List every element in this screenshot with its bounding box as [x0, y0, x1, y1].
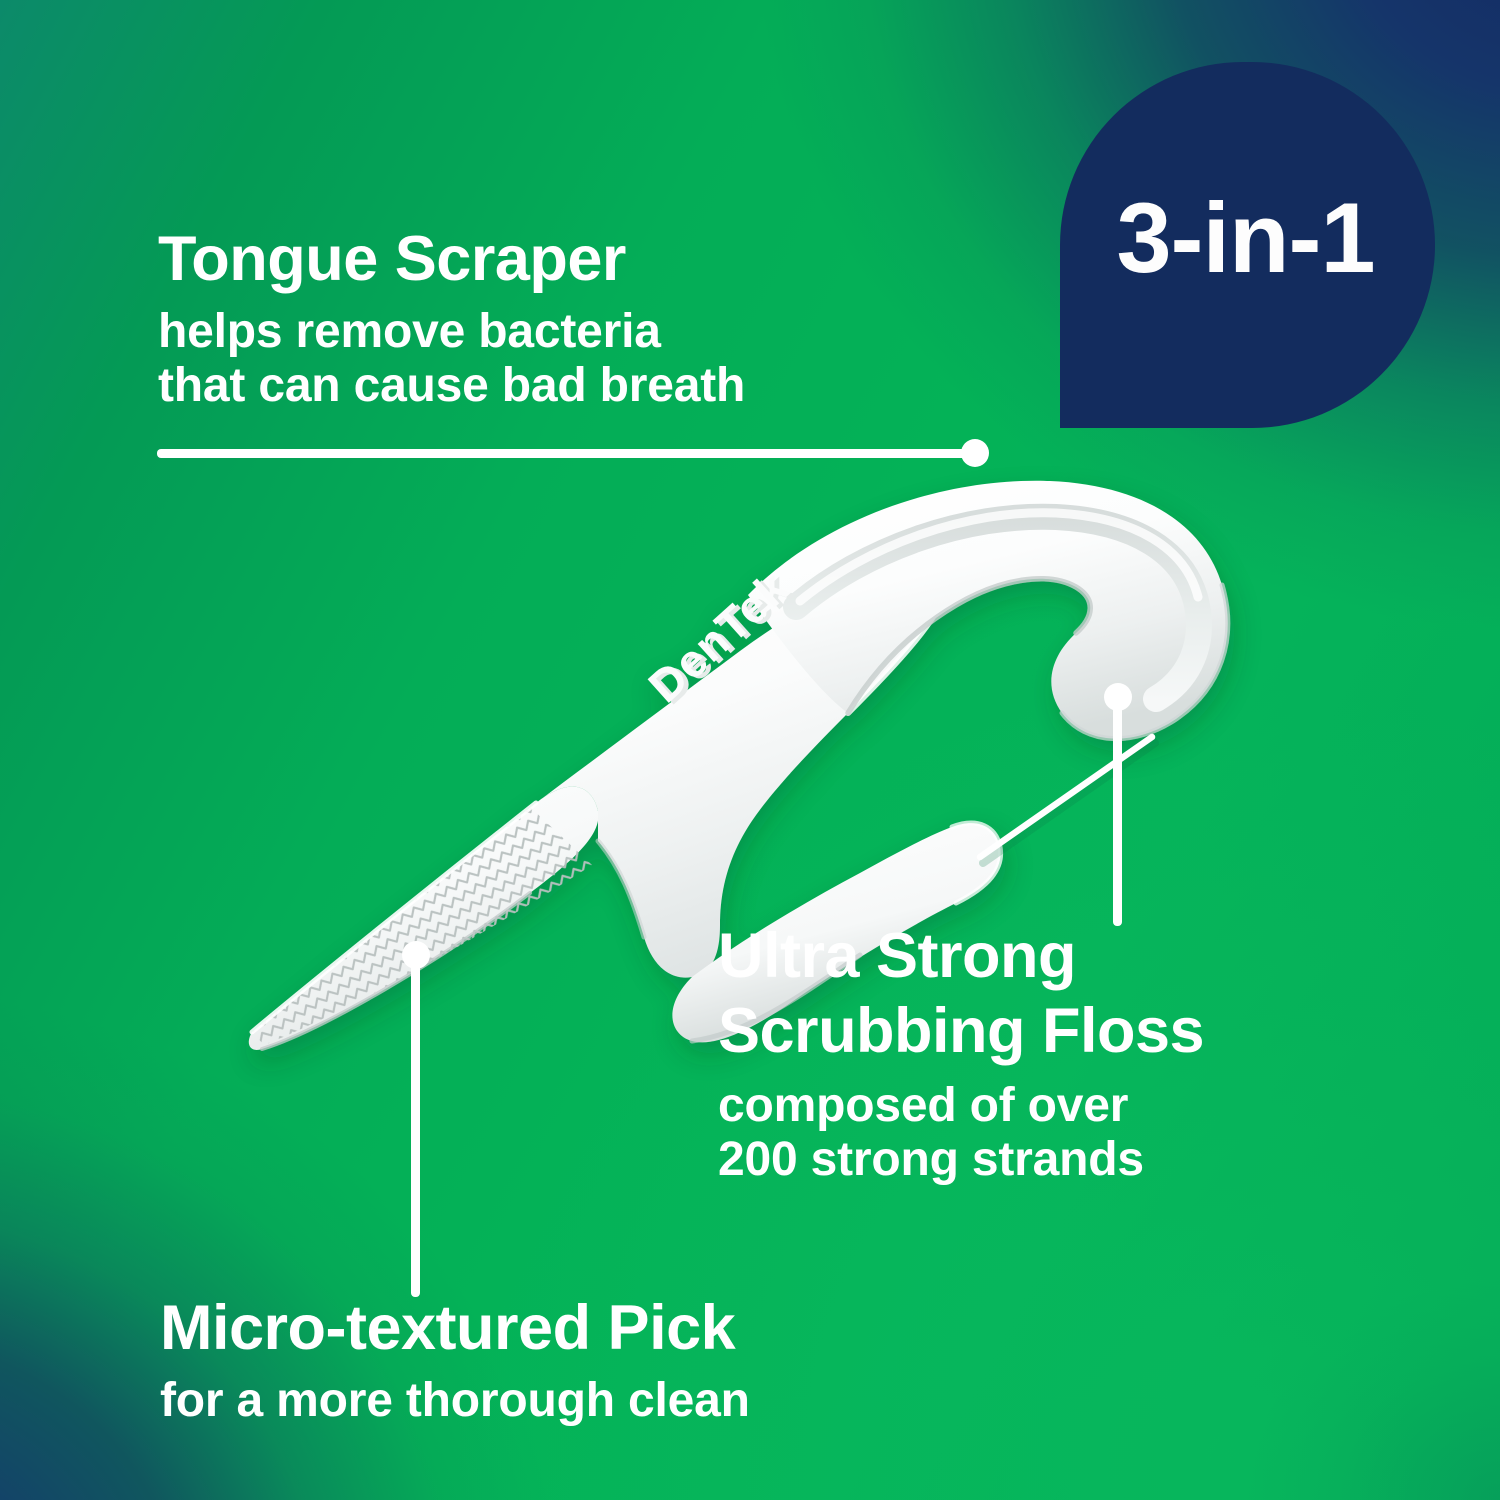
leader-line-scrubbing-floss — [1113, 704, 1122, 926]
callout-tongue-scraper-heading: Tongue Scraper — [158, 228, 745, 291]
callout-scrubbing-floss-heading-line-2: Scrubbing Floss — [718, 1000, 1204, 1063]
three-in-one-badge: 3-in-1 — [1060, 62, 1435, 428]
leader-dot-micro-textured-pick — [402, 941, 430, 969]
callout-scrubbing-floss: Ultra Strong Scrubbing Floss composed of… — [718, 925, 1204, 1187]
callout-tongue-scraper-subtext-line-2: that can cause bad breath — [158, 359, 745, 413]
callout-scrubbing-floss-subtext-line-2: 200 strong strands — [718, 1133, 1204, 1187]
leader-line-tongue-scraper — [157, 449, 975, 458]
callout-scrubbing-floss-subtext-line-1: composed of over — [718, 1079, 1204, 1133]
callout-scrubbing-floss-heading-line-1: Ultra Strong — [718, 925, 1204, 988]
leader-dot-tongue-scraper — [961, 439, 989, 467]
callout-micro-textured-pick-heading: Micro-textured Pick — [160, 1297, 750, 1360]
callout-micro-textured-pick-subtext-line-1: for a more thorough clean — [160, 1374, 750, 1428]
infographic-canvas: 3-in-1 — [0, 0, 1500, 1500]
micro-textured-pick-tip — [230, 785, 620, 1065]
leader-dot-scrubbing-floss — [1104, 683, 1132, 711]
callout-tongue-scraper-subtext-line-1: helps remove bacteria — [158, 305, 745, 359]
leader-line-micro-textured-pick — [411, 962, 420, 1297]
callout-tongue-scraper: Tongue Scraper helps remove bacteria tha… — [158, 228, 745, 413]
callout-micro-textured-pick: Micro-textured Pick for a more thorough … — [160, 1297, 750, 1428]
ultra-strong-scrubbing-floss — [980, 737, 1155, 863]
badge-label: 3-in-1 — [1116, 188, 1374, 287]
